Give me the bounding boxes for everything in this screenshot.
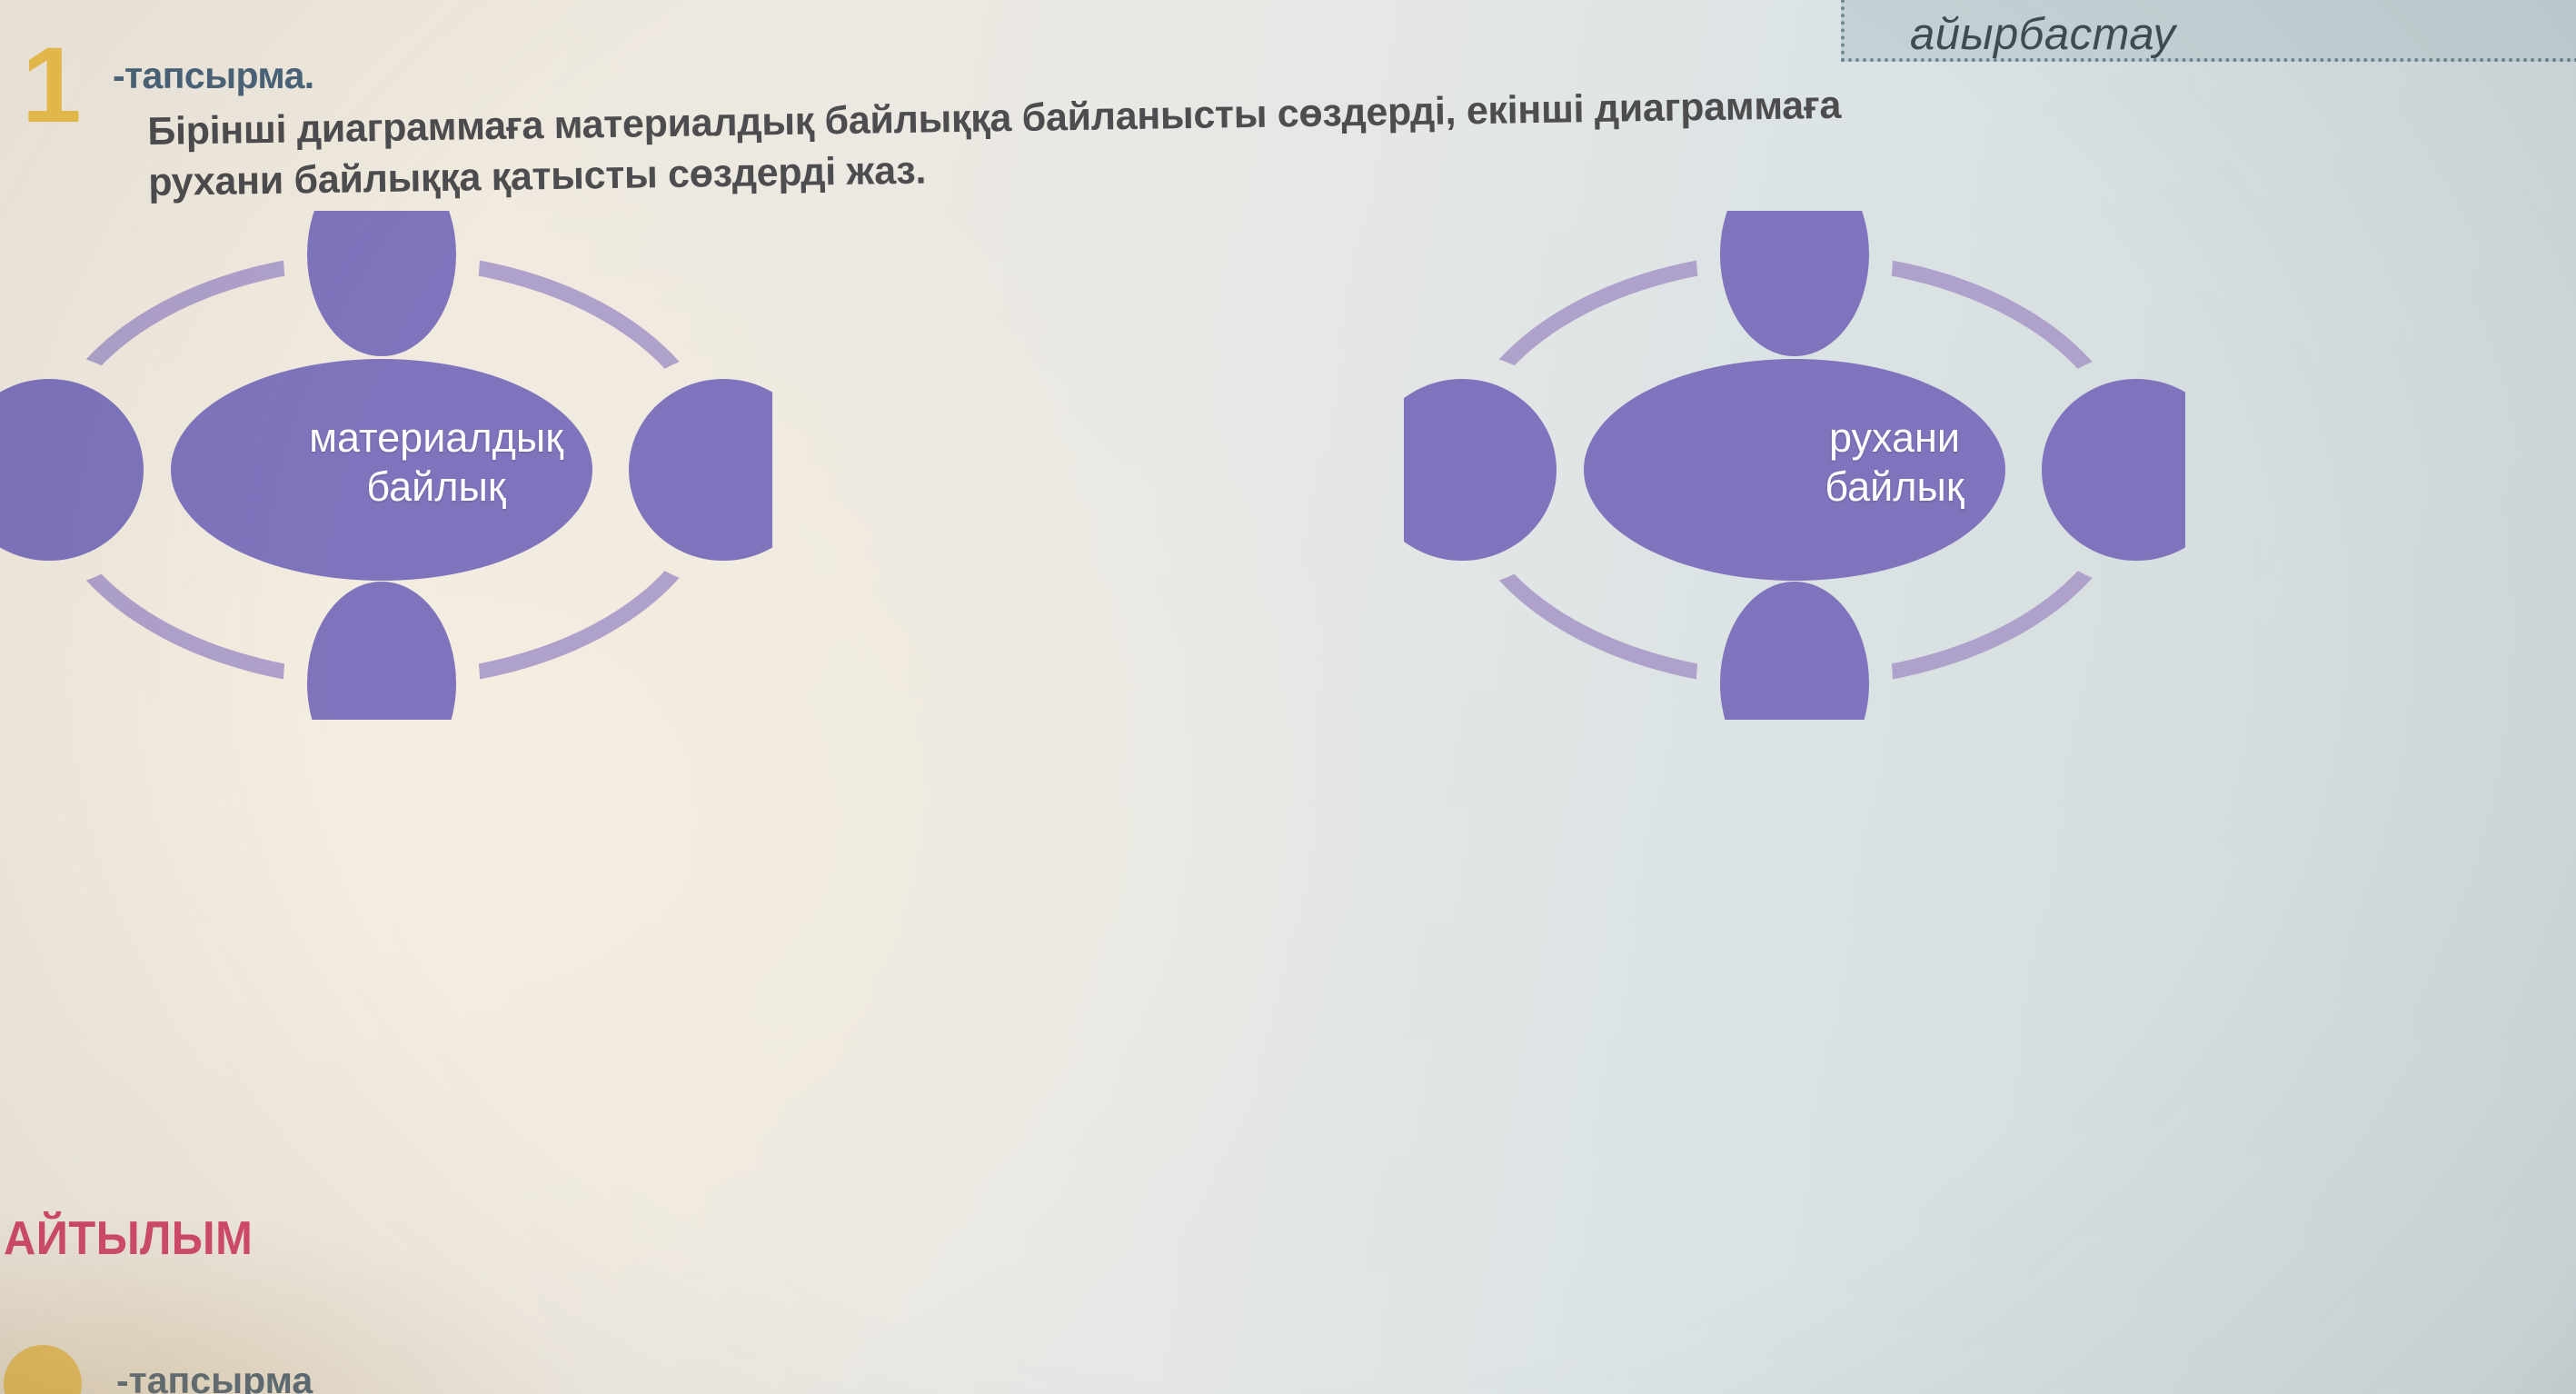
task-number: 1 <box>22 40 78 132</box>
section-tag-speaking: АЙТЫЛЫМ <box>4 1211 253 1266</box>
task-label: -тапсырма. <box>113 55 314 97</box>
diagram-node-top <box>307 211 456 356</box>
vocabulary-word: айырбастау <box>1910 9 2176 60</box>
diagram-node-top <box>1720 211 1869 356</box>
diagram-material-wealth[interactable] <box>0 211 772 720</box>
diagram-center-ellipse <box>1584 359 2005 581</box>
diagram-node-bottom <box>307 582 456 720</box>
textbook-page: айырбастау 1 -тапсырма. Бірінші диаграмм… <box>0 0 2576 1394</box>
diagram-node-bottom <box>1720 582 1869 720</box>
next-task-number-badge <box>4 1345 82 1394</box>
diagram-node-left <box>0 379 144 561</box>
diagram-spiritual-wealth[interactable] <box>1404 211 2185 720</box>
diagram-node-left <box>1404 379 1557 561</box>
task-instruction-text: Бірінші диаграммаға материалдық байлыққа… <box>147 79 1930 209</box>
diagram-node-right <box>629 379 772 561</box>
diagram-node-right <box>2042 379 2185 561</box>
diagram-center-ellipse <box>171 359 592 581</box>
vocabulary-callout-box: айырбастау <box>1841 0 2576 62</box>
next-task-label: -тапсырма <box>116 1359 313 1394</box>
